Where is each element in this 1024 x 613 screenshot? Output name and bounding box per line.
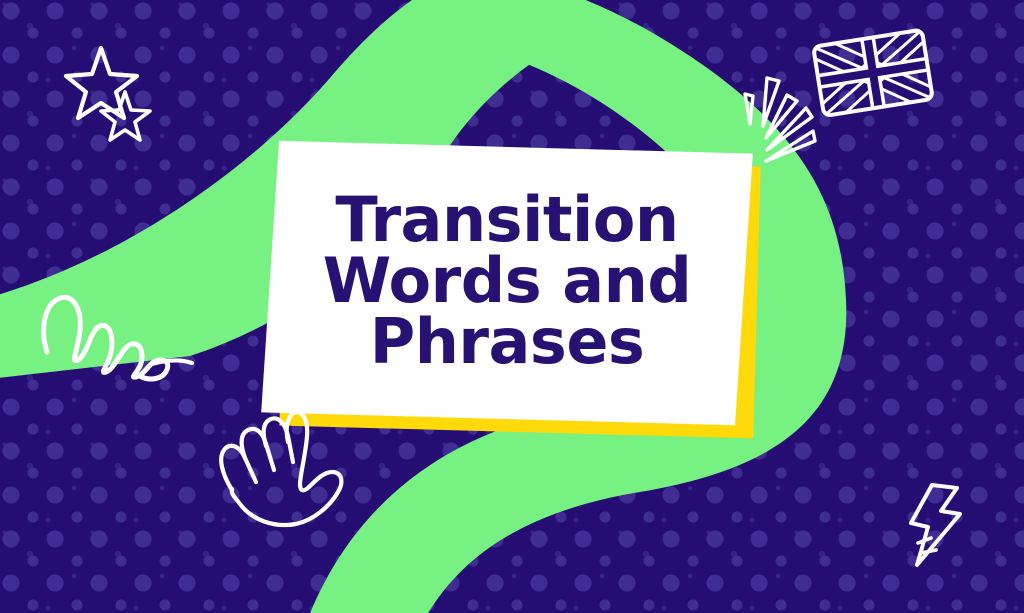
decorative-doodle-layer [0,0,1024,613]
sparkle-burst-icon [745,78,815,161]
squiggle-doodle-icon [44,297,192,379]
lightning-bolt-icon [911,485,960,565]
star-large-icon [66,48,137,118]
waving-hand-icon [221,412,341,525]
poster-canvas: Transition Words and Phrases [0,0,1024,613]
union-jack-flag-icon [813,30,933,116]
